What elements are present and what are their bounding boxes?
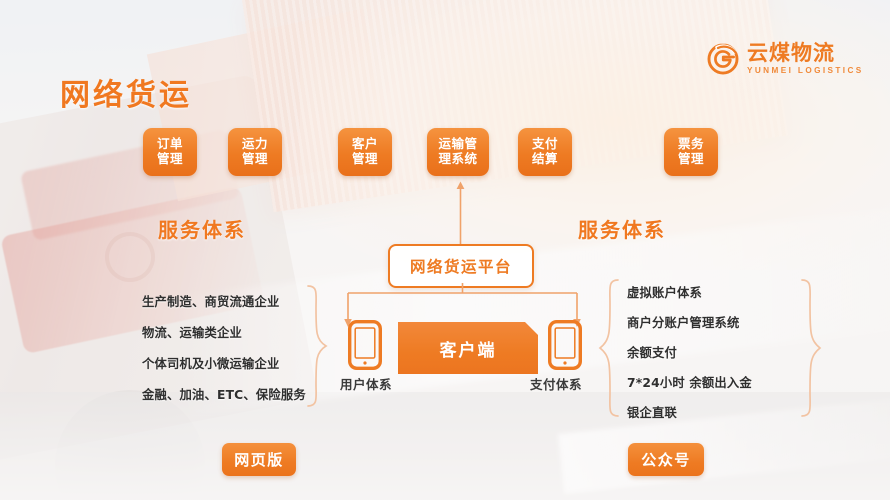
- module-line: 订单: [157, 137, 183, 152]
- brand-logo: 云煤物流 YUNMEI LOGISTICS: [706, 42, 864, 76]
- module-box-transport-management-system[interactable]: 运输管理系统: [427, 128, 489, 176]
- module-box-customer-management[interactable]: 客户管理: [338, 128, 392, 176]
- left-section-heading: 服务体系: [158, 214, 246, 243]
- list-item: 生产制造、商贸流通企业: [142, 292, 322, 310]
- list-item: 余额支付: [627, 343, 817, 361]
- tag-official-account[interactable]: 公众号: [628, 443, 704, 476]
- yunmei-circular-g-icon: [706, 42, 740, 76]
- platform-box[interactable]: 网络货运平台: [388, 244, 534, 288]
- list-item: 金融、加油、ETC、保险服务: [142, 385, 322, 403]
- arrow-up-icon: [456, 181, 465, 246]
- module-line: 管理: [242, 152, 268, 167]
- user-system-label: 用户体系: [340, 374, 392, 393]
- module-box-capacity-management[interactable]: 运力管理: [228, 128, 282, 176]
- module-line: 管理: [352, 152, 378, 167]
- payment-system-label: 支付体系: [530, 374, 582, 393]
- slide-canvas: 云煤物流 YUNMEI LOGISTICS 网络货运 服务体系 服务体系 订单管…: [0, 0, 890, 500]
- module-line: 支付: [532, 137, 558, 152]
- list-item: 商户分账户管理系统: [627, 313, 817, 331]
- module-line: 结算: [532, 152, 558, 167]
- list-item: 7*24小时 余额出入金: [627, 373, 817, 391]
- left-service-list: 生产制造、商贸流通企业 物流、运输类企业 个体司机及小微运输企业 金融、加油、E…: [142, 292, 322, 416]
- brand-name-en: YUNMEI LOGISTICS: [747, 67, 864, 75]
- module-line: 管理: [678, 152, 704, 167]
- brand-name-cn: 云煤物流: [747, 43, 864, 64]
- module-line: 管理: [157, 152, 183, 167]
- page-title: 网络货运: [60, 70, 192, 114]
- module-line: 运力: [242, 137, 268, 152]
- brace-right-icon: [800, 278, 822, 423]
- tag-web-version[interactable]: 网页版: [222, 443, 296, 476]
- module-line: 票务: [678, 137, 704, 152]
- module-box-ticket-management[interactable]: 票务管理: [664, 128, 718, 176]
- list-item: 银企直联: [627, 403, 817, 421]
- module-line: 客户: [352, 137, 378, 152]
- module-box-order-management[interactable]: 订单管理: [143, 128, 197, 176]
- list-item: 虚拟账户体系: [627, 283, 817, 301]
- client-app-box[interactable]: 客户端: [398, 322, 538, 374]
- right-service-list: 虚拟账户体系 商户分账户管理系统 余额支付 7*24小时 余额出入金 银企直联: [627, 283, 817, 433]
- brace-left-icon: [598, 278, 620, 423]
- module-box-payment-settlement[interactable]: 支付结算: [518, 128, 572, 176]
- list-item: 个体司机及小微运输企业: [142, 354, 322, 372]
- tablet-icon-payment-system: [548, 320, 582, 370]
- list-item: 物流、运输类企业: [142, 323, 322, 341]
- module-line: 理系统: [438, 152, 477, 167]
- module-line: 运输管: [438, 137, 477, 152]
- tablet-icon-user-system: [348, 320, 382, 370]
- brace-right-icon: [306, 284, 328, 413]
- right-section-heading: 服务体系: [578, 214, 666, 243]
